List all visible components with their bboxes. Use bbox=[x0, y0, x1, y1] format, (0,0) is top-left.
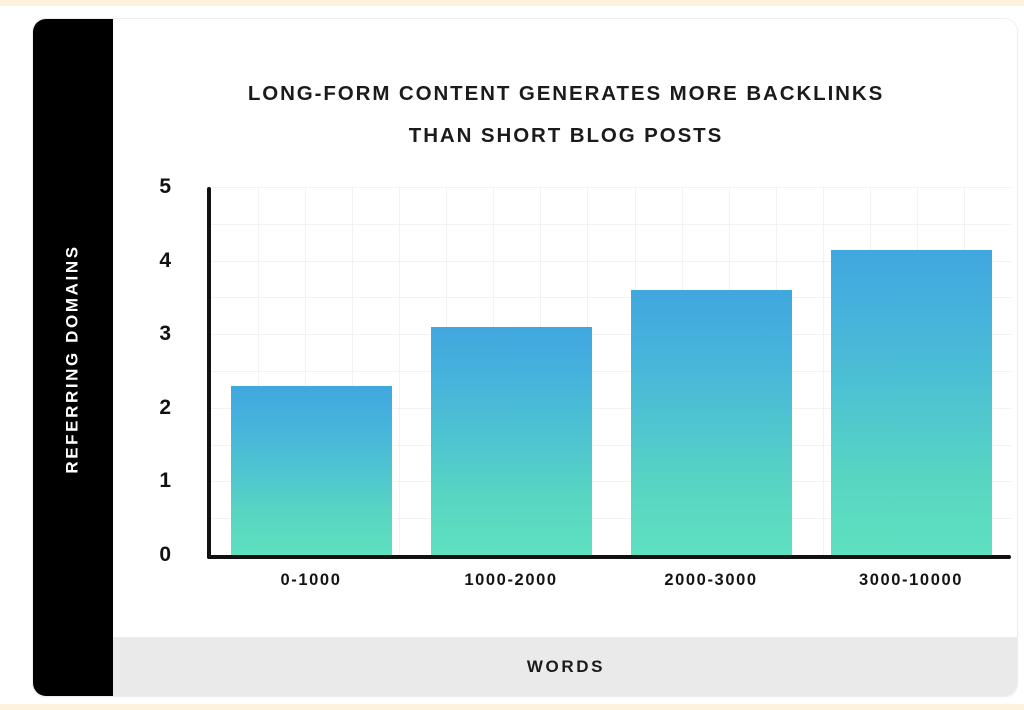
bar-series bbox=[211, 187, 1011, 555]
x-axis-title: WORDS bbox=[527, 657, 605, 677]
y-axis-tick-4: 4 bbox=[159, 249, 171, 273]
chart-axes bbox=[207, 187, 1011, 559]
y-axis-title-band: REFERRING DOMAINS bbox=[33, 19, 113, 697]
x-axis-title-band: WORDS bbox=[113, 637, 1018, 696]
y-axis-tick-1: 1 bbox=[159, 469, 171, 493]
chart-screenshot: REFERRING DOMAINS LONG-FORM CONTENT GENE… bbox=[0, 0, 1024, 710]
chart-title-line-1: LONG-FORM CONTENT GENERATES MORE BACKLIN… bbox=[248, 82, 884, 105]
chart-region: LONG-FORM CONTENT GENERATES MORE BACKLIN… bbox=[113, 19, 1018, 697]
x-axis-tick-3000-10000: 3000-10000 bbox=[811, 571, 1011, 590]
x-axis-tick-labels: 0-10001000-20002000-30003000-10000 bbox=[211, 571, 1011, 605]
y-axis-tick-2: 2 bbox=[159, 396, 171, 420]
x-axis-line bbox=[207, 555, 1011, 559]
x-axis-tick-2000-3000: 2000-3000 bbox=[611, 571, 811, 590]
bar-0-1000 bbox=[231, 386, 392, 555]
y-axis-tick-3: 3 bbox=[159, 322, 171, 346]
y-axis-tick-5: 5 bbox=[159, 175, 171, 199]
x-axis-tick-0-1000: 0-1000 bbox=[211, 571, 411, 590]
page-accent-strip-bottom bbox=[0, 704, 1024, 710]
chart-title-line-2: THAN SHORT BLOG POSTS bbox=[113, 115, 1018, 157]
chart-title: LONG-FORM CONTENT GENERATES MORE BACKLIN… bbox=[113, 73, 1018, 157]
page-accent-strip-top bbox=[0, 0, 1024, 6]
y-axis-tick-0: 0 bbox=[159, 543, 171, 567]
plot-area: 012345 0-10001000-20002000-30003000-1000… bbox=[113, 187, 1018, 567]
bar-1000-2000 bbox=[431, 327, 592, 555]
bar-3000-10000 bbox=[831, 250, 992, 555]
bar-2000-3000 bbox=[631, 290, 792, 555]
y-axis-title: REFERRING DOMAINS bbox=[63, 244, 83, 473]
y-axis-tick-labels: 012345 bbox=[113, 187, 185, 559]
chart-card: REFERRING DOMAINS LONG-FORM CONTENT GENE… bbox=[32, 18, 1018, 697]
x-axis-tick-1000-2000: 1000-2000 bbox=[411, 571, 611, 590]
